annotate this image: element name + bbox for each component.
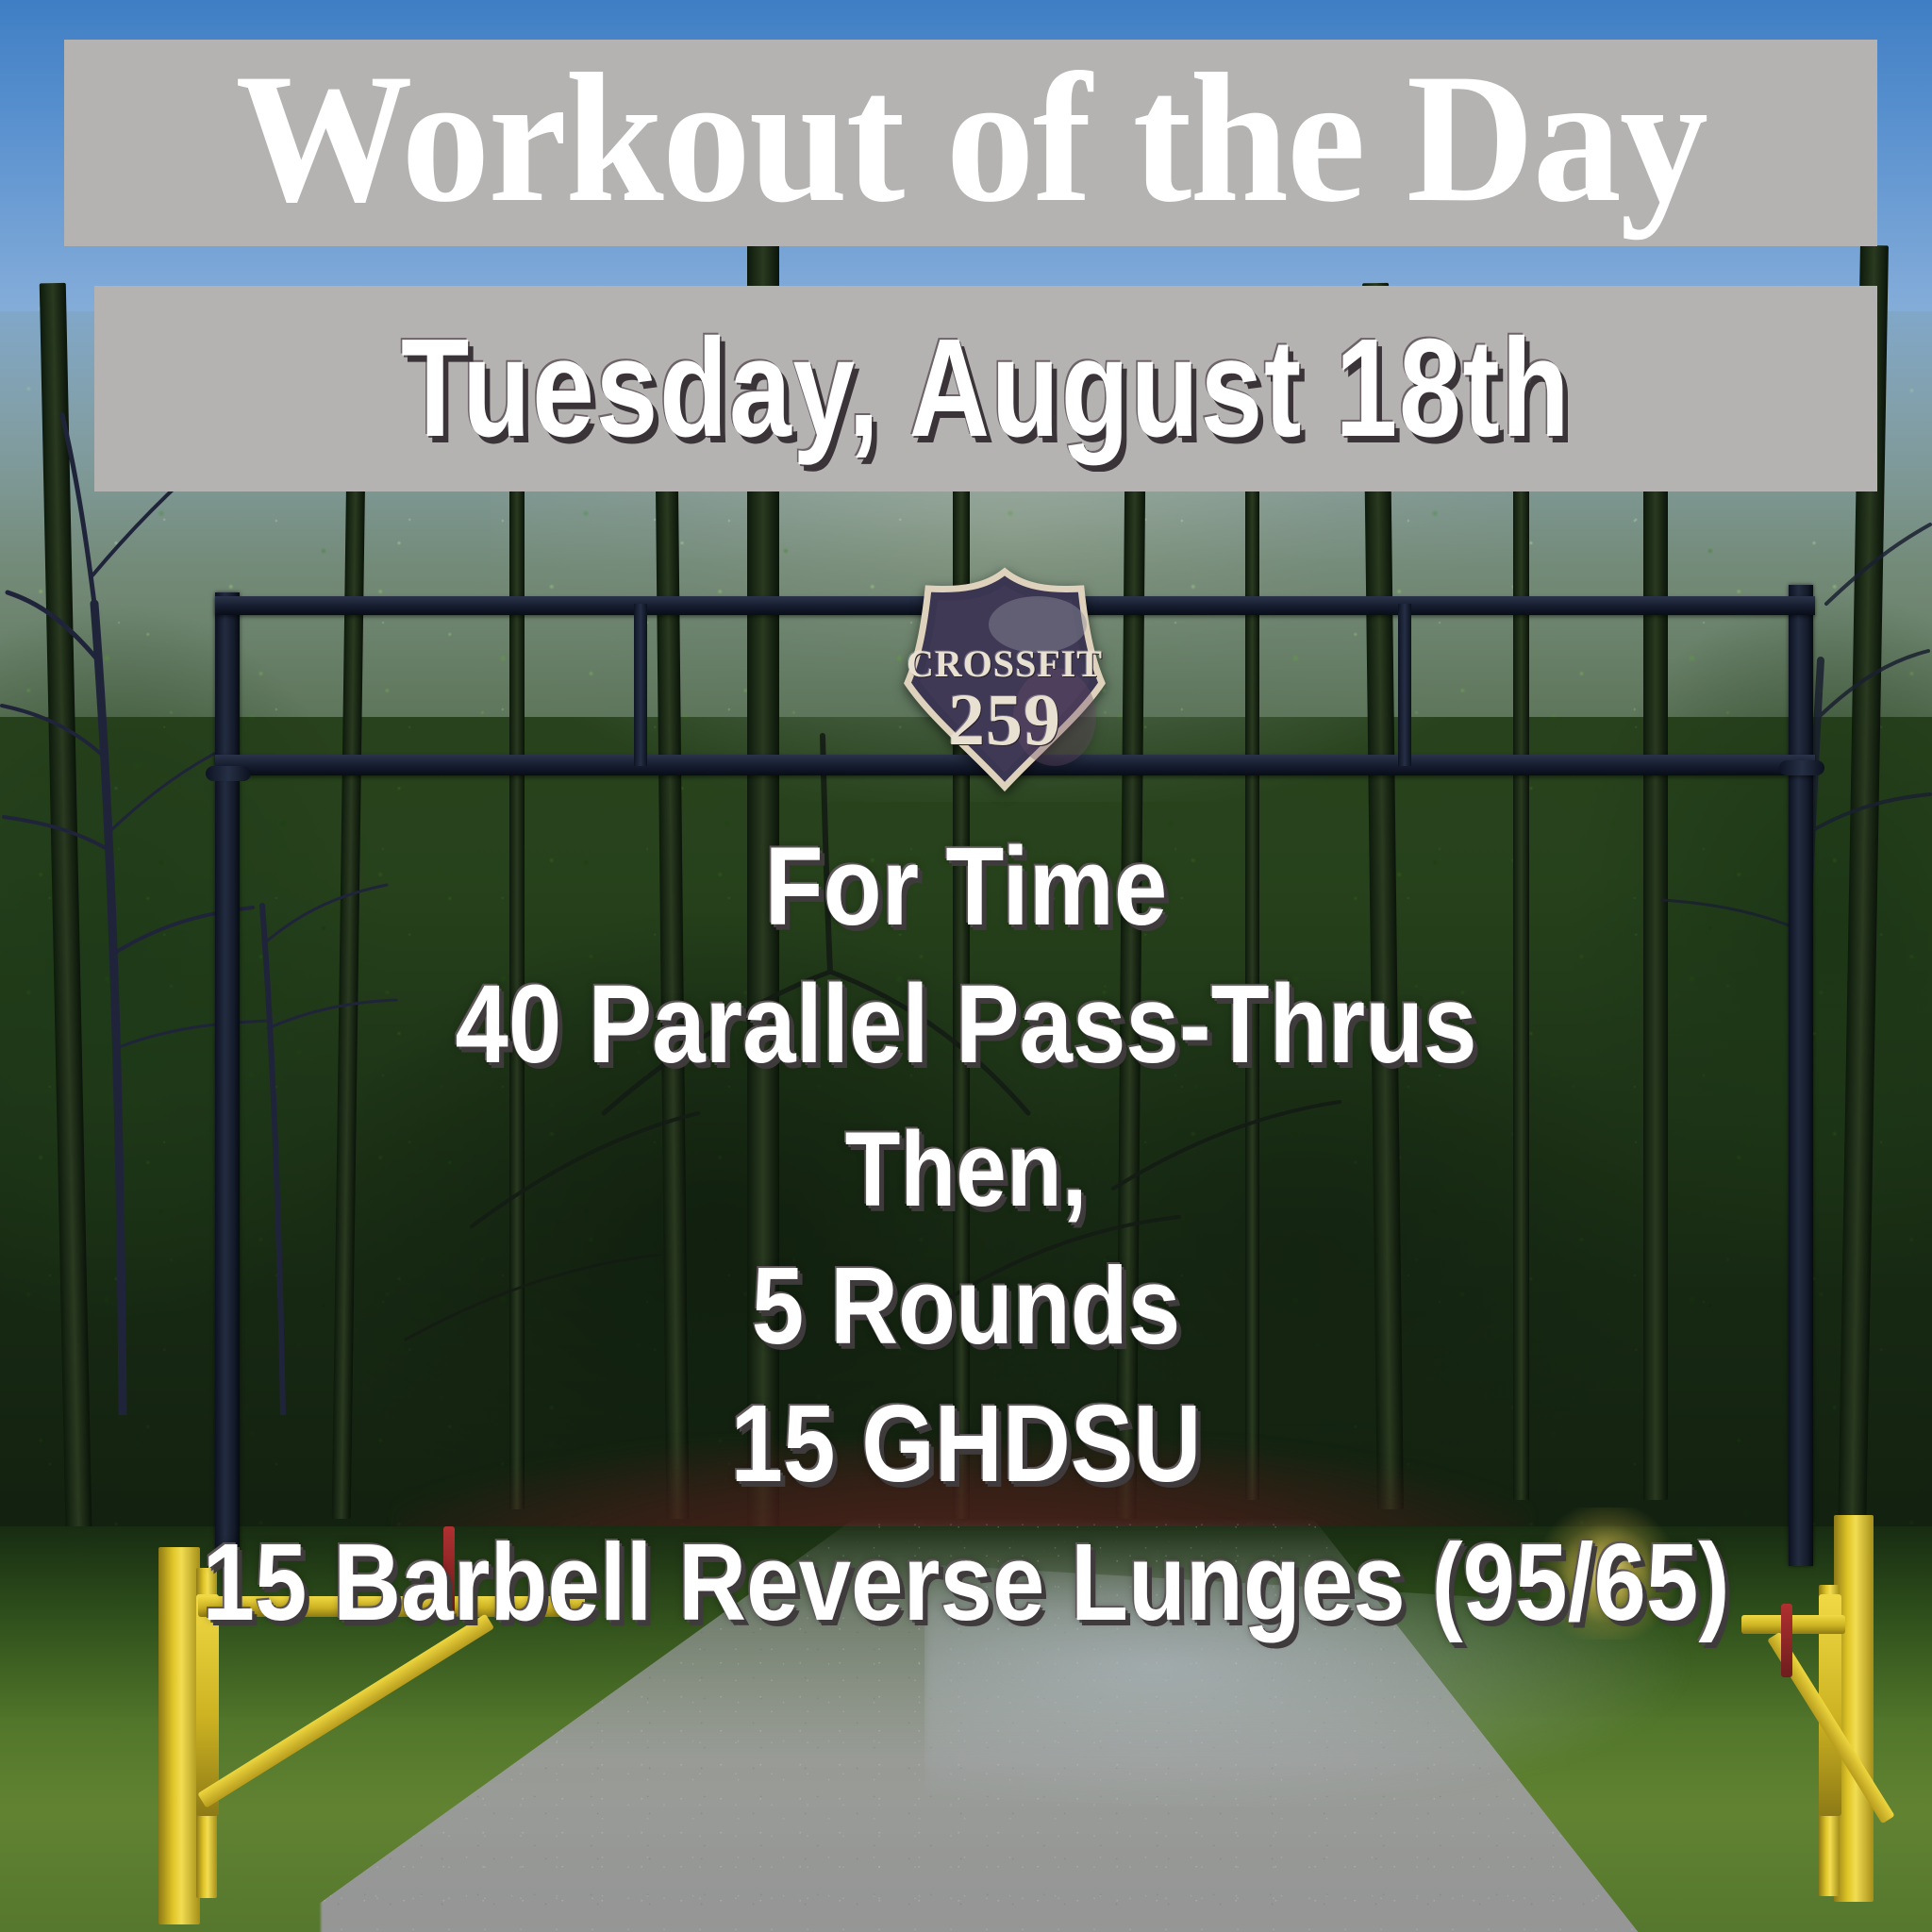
distant-light-glow [1536,1507,1677,1640]
tree-trunk [1643,321,1668,1500]
tree-trunk [1513,443,1529,1500]
tree-trunk [1245,472,1259,1500]
title-banner: Workout of the Day [64,40,1877,246]
crossfit-259-logo: CROSSFIT 259 [896,566,1113,792]
tree-trunk [509,443,525,1509]
workout-date: Tuesday, August 18th [401,319,1571,458]
wod-poster: CROSSFIT 259 Workout of the Day Tuesday,… [0,0,1932,1932]
date-banner: Tuesday, August 18th [94,286,1877,491]
logo-number-text: 259 [896,677,1113,762]
page-title: Workout of the Day [235,46,1707,241]
